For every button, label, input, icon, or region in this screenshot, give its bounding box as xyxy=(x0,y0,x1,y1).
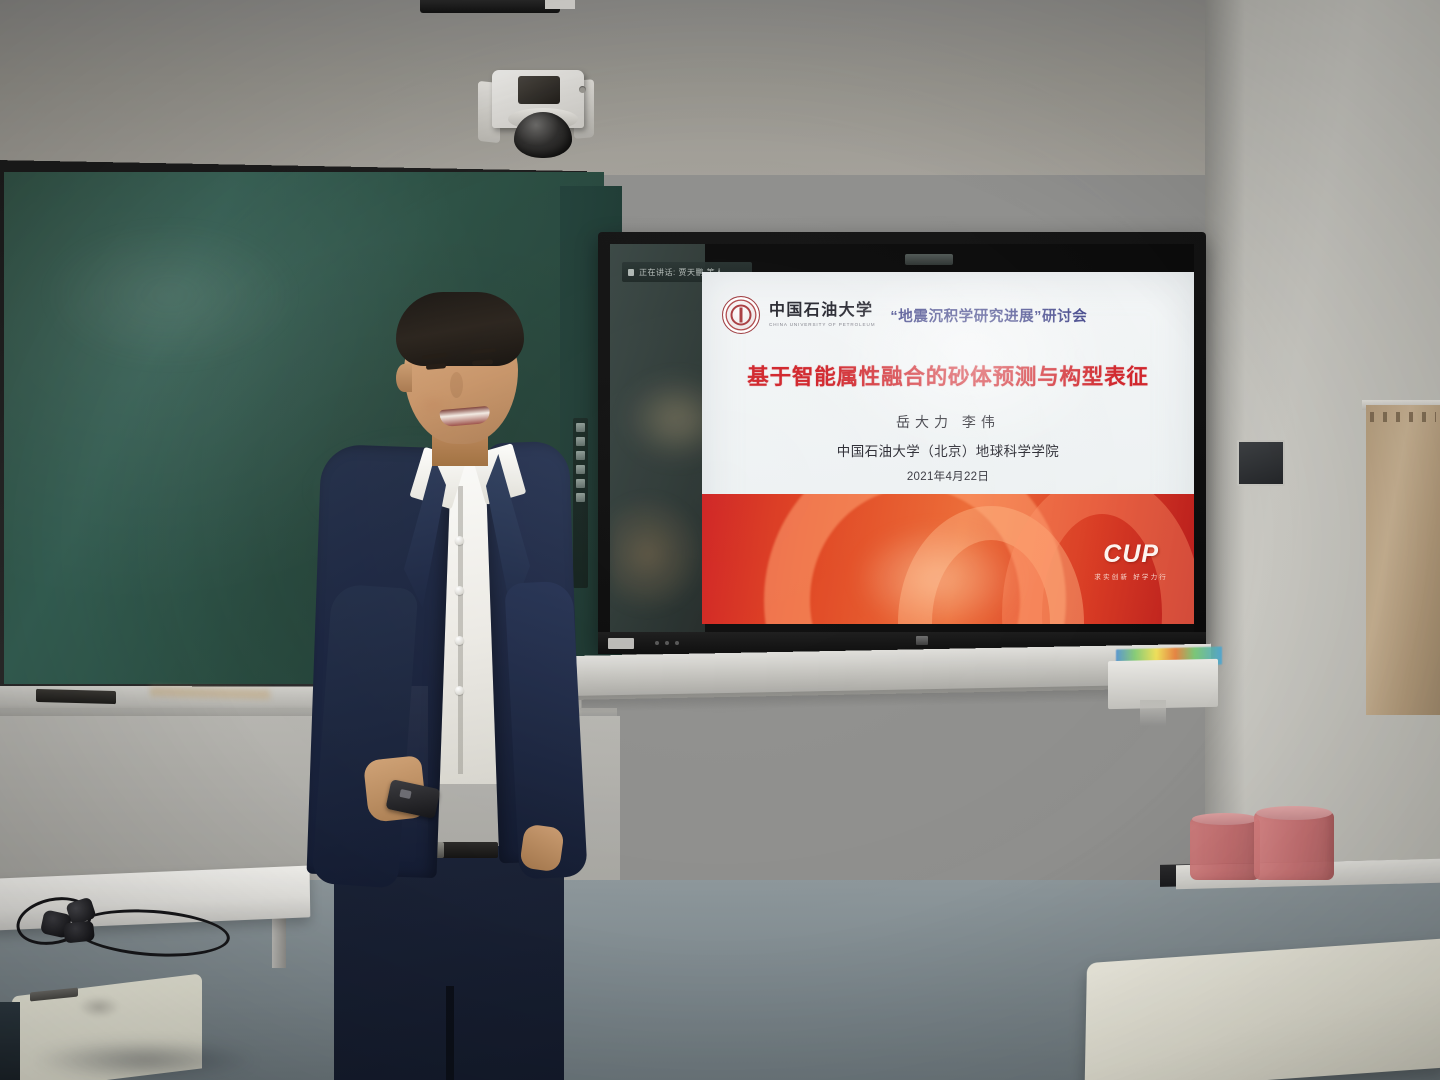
slide-graphic-band: CUP 求实创新 好学力行 xyxy=(702,494,1194,624)
seminar-name: “地震沉积学研究进展”研讨会 xyxy=(890,305,1087,326)
presenter-hand-right xyxy=(519,823,565,872)
speaker-icon xyxy=(628,269,634,276)
display-buttons[interactable] xyxy=(655,641,695,645)
slide-title: 基于智能属性融合的砂体预测与构型表征 xyxy=(702,360,1194,391)
nose xyxy=(450,372,463,398)
display-screen[interactable]: 正在讲话: 贾天鹏 等人 中国石油大学 CHINA UNIVERSITY OF … xyxy=(610,244,1194,632)
camera-screw xyxy=(579,86,586,93)
display-button-1[interactable] xyxy=(655,641,659,645)
shirt-button-3 xyxy=(455,636,464,645)
slide-header: 中国石油大学 CHINA UNIVERSITY OF PETROLEUM “地震… xyxy=(722,294,1174,336)
cup-logo-tagline: 求实创新 好学力行 xyxy=(1094,571,1168,581)
university-name-block: 中国石油大学 CHINA UNIVERSITY OF PETROLEUM xyxy=(769,303,875,327)
presenter-hair xyxy=(396,292,524,366)
shirt-button-4 xyxy=(455,686,464,695)
toolbar-icon-2[interactable] xyxy=(576,437,585,446)
plastic-cup-left xyxy=(1190,818,1260,880)
slide-date: 2021年4月22日 xyxy=(702,468,1194,484)
presentation-slide: 中国石油大学 CHINA UNIVERSITY OF PETROLEUM “地震… xyxy=(702,272,1194,624)
slide-affiliation: 中国石油大学（北京）地球科学学院 xyxy=(702,440,1194,460)
wall-outlet-panel xyxy=(1237,440,1285,486)
university-name-en: CHINA UNIVERSITY OF PETROLEUM xyxy=(769,322,875,327)
blackboard-eraser xyxy=(36,689,116,704)
toolbar-icon-6[interactable] xyxy=(576,493,585,502)
curtain-hooks xyxy=(1370,412,1436,422)
screen-status-chip xyxy=(905,254,953,265)
classroom-photo: 正在讲话: 贾天鹏 等人 中国石油大学 CHINA UNIVERSITY OF … xyxy=(0,0,1440,1080)
display-brand-logo xyxy=(916,636,928,645)
university-name-cn: 中国石油大学 xyxy=(769,303,875,320)
toolbar-icon-1[interactable] xyxy=(576,423,585,432)
floor-equipment-box xyxy=(0,1002,20,1080)
coiled-cable xyxy=(16,892,246,944)
board-toolbar-icons[interactable] xyxy=(573,418,588,588)
display-button-3[interactable] xyxy=(675,641,679,645)
presenter xyxy=(300,286,570,1080)
rail-support-leg xyxy=(1140,700,1166,726)
plastic-cup-right xyxy=(1254,812,1334,880)
slide-authors: 岳大力 李伟 xyxy=(702,412,1194,432)
shirt-button-1 xyxy=(455,536,464,545)
cup-logo: CUP 求实创新 好学力行 xyxy=(1094,540,1168,581)
shirt-button-2 xyxy=(455,586,464,595)
dome-camera xyxy=(478,70,596,162)
left-chair-mark xyxy=(78,996,120,1018)
screen-reflection-low xyxy=(610,494,705,614)
camera-dome-lens xyxy=(514,112,572,158)
right-table xyxy=(1085,938,1440,1080)
presenter-shadow xyxy=(30,1040,260,1080)
chalk-smudge xyxy=(40,220,300,370)
toolbar-icon-3[interactable] xyxy=(576,451,585,460)
trouser-seam xyxy=(446,986,454,1080)
cup-logo-text: CUP xyxy=(1094,540,1168,569)
curtain xyxy=(1366,405,1440,715)
toolbar-icon-4[interactable] xyxy=(576,465,585,474)
display-button-2[interactable] xyxy=(665,641,669,645)
ceiling-fixture-end xyxy=(545,0,575,9)
ceiling-fixture xyxy=(420,0,560,13)
display-label-tag xyxy=(608,638,634,649)
ribbon-highlight xyxy=(852,524,1022,624)
shirt-placket xyxy=(458,486,463,774)
toolbar-icon-5[interactable] xyxy=(576,479,585,488)
presenter-ear xyxy=(396,364,412,392)
university-crest-icon xyxy=(722,296,760,334)
cable-connector-3 xyxy=(63,920,95,943)
camera-sensor-icon xyxy=(518,76,560,104)
